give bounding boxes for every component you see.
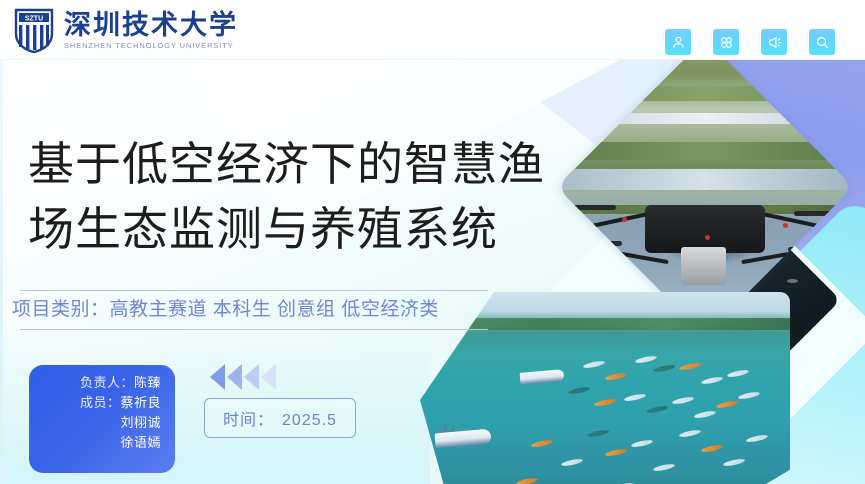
search-icon[interactable]	[809, 29, 835, 55]
team-member-name: 刘栩诚	[120, 415, 161, 430]
apps-grid-icon[interactable]	[713, 29, 739, 55]
slide-title: 基于低空经济下的智慧渔 场生态监测与养殖系统	[28, 132, 628, 263]
user-icon[interactable]	[665, 29, 691, 55]
team-card: 负责人：陈臻 成员：蔡祈良 刘栩诚 徐语嫣	[29, 365, 175, 473]
title-line-2: 场生态监测与养殖系统	[28, 197, 628, 262]
university-logo: SZTU 深圳技术大学 SHENZHEN TECHNOLOGY UNIVERSI…	[14, 8, 238, 53]
team-members-label: 成员：	[80, 395, 121, 410]
subtitle-rule-bottom	[20, 329, 488, 330]
title-line-1: 基于低空经济下的智慧渔	[28, 132, 628, 197]
svg-text:SZTU: SZTU	[25, 16, 43, 23]
team-member-name: 徐语嫣	[120, 435, 161, 450]
shield-icon: SZTU	[14, 8, 54, 53]
slide-header: SZTU 深圳技术大学 SHENZHEN TECHNOLOGY UNIVERSI…	[0, 0, 865, 60]
date-label: 时间：	[223, 412, 274, 429]
date-value: 2025.5	[274, 412, 337, 429]
team-member-name: 蔡祈良	[120, 395, 161, 410]
background-left-band	[0, 60, 3, 484]
megaphone-icon[interactable]	[761, 29, 787, 55]
header-divider	[0, 59, 865, 60]
chevron-left-icon	[244, 364, 259, 390]
university-name-cn: 深圳技术大学	[64, 11, 238, 39]
team-leader-name: 陈臻	[134, 375, 161, 390]
team-member-row: 徐语嫣	[29, 433, 161, 453]
chevron-left-icon	[210, 364, 225, 390]
team-member-row: 成员：蔡祈良	[29, 393, 161, 413]
presentation-slide: SZTU 深圳技术大学 SHENZHEN TECHNOLOGY UNIVERSI…	[0, 0, 865, 484]
team-leader-row: 负责人：陈臻	[29, 373, 161, 393]
chevron-left-icon	[261, 364, 276, 390]
header-icon-row	[665, 29, 835, 55]
chevron-left-icon	[227, 364, 242, 390]
date-chip: 时间：2025.5	[204, 398, 356, 438]
project-category-text: 项目类别：高教主赛道 本科生 创意组 低空经济类	[10, 291, 490, 329]
team-leader-label: 负责人：	[80, 375, 134, 390]
subtitle-block: 项目类别：高教主赛道 本科生 创意组 低空经济类	[10, 290, 490, 330]
university-name-en: SHENZHEN TECHNOLOGY UNIVERSITY	[64, 41, 238, 50]
team-member-row: 刘栩诚	[29, 413, 161, 433]
chevron-decoration	[210, 364, 276, 390]
